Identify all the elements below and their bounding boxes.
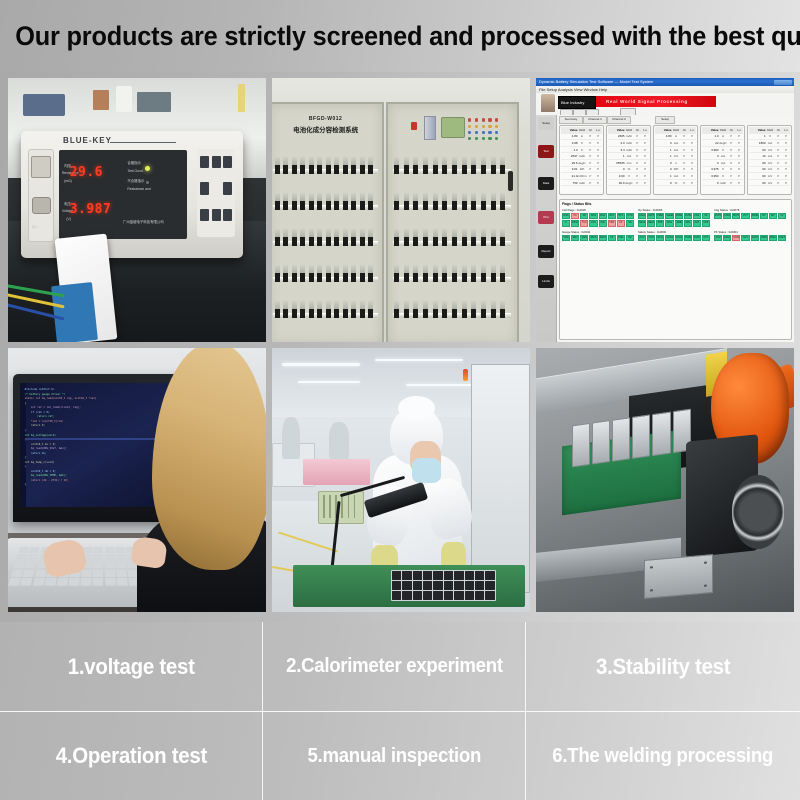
sidebar-item-test[interactable]: Test xyxy=(538,145,554,158)
keyboard-key[interactable] xyxy=(25,562,37,569)
battery-clip-tip xyxy=(360,237,365,246)
editor-code-text: #include <stdint.h>/* battery gauge driv… xyxy=(25,388,135,488)
cabinet-keypad-button[interactable] xyxy=(482,137,485,140)
battery-clip-tip xyxy=(491,309,496,318)
battery-clip-tip xyxy=(343,237,348,246)
keypad-key-run[interactable] xyxy=(223,209,232,221)
parameter-row: SOH Rate0%PP xyxy=(655,180,696,187)
tray-component xyxy=(475,591,484,600)
battery-clip-tip xyxy=(413,273,418,282)
background-worker xyxy=(329,422,350,459)
battery-clip-tip xyxy=(317,201,322,210)
battery-clip-tip xyxy=(351,273,356,282)
status-flag-cell: EDV xyxy=(571,235,579,241)
parameter-row: Full Charge Cap3.4mAhPP xyxy=(608,147,649,154)
battery-clip-tip xyxy=(368,273,373,282)
battery-clip-tip xyxy=(442,165,447,174)
status-flag-cell: LV xyxy=(778,213,786,219)
tab-summary[interactable]: Summary xyxy=(559,116,583,124)
tray-component xyxy=(423,591,432,600)
battery-clip-tip xyxy=(334,309,339,318)
parameter-row: Reserve Capacity0mAhPP xyxy=(702,180,743,187)
keypad-key-set[interactable] xyxy=(200,156,209,168)
status-flag-caption: Safety Status : 0x0000 xyxy=(638,230,710,234)
keyboard-key[interactable] xyxy=(105,554,115,560)
battery-clip-tip xyxy=(326,165,331,174)
status-flag-cell: VIMA xyxy=(769,235,777,241)
battery-clip-tip xyxy=(481,273,486,282)
device-db9-socket xyxy=(31,156,51,178)
battery-clip-tip xyxy=(360,309,365,318)
battery-clip-tip xyxy=(292,309,297,318)
keyboard-key[interactable] xyxy=(57,578,69,586)
battery-clip-tip xyxy=(351,309,356,318)
battery-clip-tip xyxy=(283,165,288,174)
cabinet-keypad-button[interactable] xyxy=(482,118,485,121)
status-flag-cell: VOK xyxy=(702,220,710,226)
caption-label-2: 2.Calorimeter experiment xyxy=(286,655,503,678)
status-flag-cell: TAPER xyxy=(751,213,759,219)
status-flag-cell: SEC0 xyxy=(647,220,655,226)
keyboard-key[interactable] xyxy=(105,562,115,569)
tray-component xyxy=(475,571,484,580)
keyboard-key[interactable] xyxy=(81,570,92,577)
cabinet-keypad-button[interactable] xyxy=(468,131,471,134)
cabinet-keypad-button[interactable] xyxy=(482,125,485,128)
photo-grid: BLUE-KEY 内阻 Resistance (mΩ) 29.6 电压 xyxy=(8,78,792,618)
tray-component xyxy=(433,581,442,590)
photo-calorimeter-experiment: BFGD-W012 电池化成分容检测系统 xyxy=(272,78,530,342)
keyboard-key[interactable] xyxy=(93,578,104,586)
keyboard-key[interactable] xyxy=(69,578,80,586)
keyboard-key[interactable] xyxy=(29,547,40,553)
device-brand-label: BLUE-KEY xyxy=(63,136,112,145)
device-maker-label: 广州蓝键电子科技有限公司 xyxy=(123,220,164,225)
bench-white-cup xyxy=(116,86,131,112)
battery-clip-tip xyxy=(491,201,496,210)
status-flag-cell: CFG xyxy=(665,220,673,226)
status-flag-cell: 0 xyxy=(562,220,570,226)
battery-clip-tip xyxy=(394,237,399,246)
battery-clip-tip xyxy=(394,201,399,210)
status-flag-cell: OTC xyxy=(702,235,710,241)
tray-component xyxy=(465,571,474,580)
status-flags-title: Flags / Status Bits xyxy=(562,202,789,206)
software-logo-text: Blue Industry xyxy=(561,100,584,105)
parameter-row: Charger Volt60mVPP xyxy=(749,167,790,174)
keyboard-key[interactable] xyxy=(115,547,125,553)
battery-clip-tip xyxy=(394,165,399,174)
status-flag-row: DSGFCFDCHGRCARTAOTCOTD xyxy=(562,213,634,219)
parameter-row: Resist Temp22degCPP xyxy=(702,140,743,147)
battery-clip-tip xyxy=(360,165,365,174)
keypad-key-esc[interactable] xyxy=(223,156,232,168)
software-tab-strip[interactable]: Summary Channel 1 Channel 2 Setup xyxy=(559,116,794,123)
parameter-row: Temperature29.6degCPP xyxy=(561,160,602,167)
keyboard-key[interactable] xyxy=(116,570,127,577)
battery-clip-tip xyxy=(423,237,428,246)
parameter-row: Remaining Cap2.0mAhPP xyxy=(608,140,649,147)
cabinet-keypad-button[interactable] xyxy=(495,118,498,121)
parameter-row: Cell Cap mAh2537mAhPP xyxy=(561,153,602,160)
battery-clip-tip xyxy=(275,237,280,246)
display-label-voltage-unit: (V) xyxy=(66,217,71,222)
status-flag-cell: VDQ xyxy=(562,235,570,241)
status-flag-cell: DSG xyxy=(617,235,625,241)
window-control-buttons[interactable] xyxy=(774,80,792,85)
device-keypad[interactable] xyxy=(197,149,235,238)
parameter-row: Full Cycle Rate0%PP xyxy=(608,167,649,174)
keyboard-key[interactable] xyxy=(93,570,103,577)
status-flag-cell: CUV xyxy=(638,235,646,241)
battery-clip-tip xyxy=(334,201,339,210)
keyboard-key[interactable] xyxy=(45,578,57,586)
cabinet-keypad-button[interactable] xyxy=(482,131,485,134)
battery-clip-tip xyxy=(394,273,399,282)
status-flag-row: SOVSOCCSOCDSOTSOTFVIMRVIMACFETF xyxy=(714,235,786,241)
battery-clip-tip xyxy=(309,165,314,174)
keyboard-key[interactable] xyxy=(81,578,92,586)
battery-clip-tip xyxy=(500,165,505,174)
battery-clip-tip xyxy=(317,237,322,246)
sidebar-item-report[interactable]: Plot xyxy=(538,211,554,224)
cabinet-keypad-button[interactable] xyxy=(495,131,498,134)
battery-clip-tip xyxy=(404,309,409,318)
status-ng-label-en: Resistance and xyxy=(127,187,150,192)
keypad-key-stop[interactable] xyxy=(200,209,209,221)
status-flag-cell: SOTF xyxy=(751,235,759,241)
status-flag-cell: FAS xyxy=(693,213,701,219)
status-flag-cell: SDV xyxy=(684,220,692,226)
page-title: Our products are strictly screened and p… xyxy=(0,21,800,52)
sidebar-item-limits[interactable]: Report xyxy=(538,245,554,258)
battery-tester-device: BLUE-KEY 内阻 Resistance (mΩ) 29.6 电压 xyxy=(21,131,243,258)
keyboard-key[interactable] xyxy=(93,562,103,569)
status-flag-cell: REST xyxy=(599,235,607,241)
battery-clip-tip xyxy=(368,201,373,210)
ceiling-light-tube xyxy=(406,384,473,387)
photo-welding-processing xyxy=(536,348,794,612)
parameter-row: Internal Temperature30.0degCPP xyxy=(608,180,649,187)
ceiling-light-tube xyxy=(282,363,359,366)
battery-clip-tip xyxy=(442,237,447,246)
cabinet-keypad-button[interactable] xyxy=(488,125,491,128)
battery-clip-tip xyxy=(462,309,467,318)
battery-clip-tip xyxy=(360,273,365,282)
caption-cell-1: 1.voltage test xyxy=(0,622,262,711)
battery-clip-tip xyxy=(326,237,331,246)
battery-clip-tip xyxy=(351,237,356,246)
keypad-key-up[interactable] xyxy=(212,156,221,168)
battery-clip-tip xyxy=(343,309,348,318)
worker-hood-cap xyxy=(398,396,435,420)
battery-clip-tip xyxy=(413,201,418,210)
tray-component xyxy=(392,591,401,600)
caption-label-4: 4.Operation test xyxy=(55,743,206,769)
keyboard-key[interactable] xyxy=(105,547,115,553)
battery-clip-tip xyxy=(471,165,476,174)
component-tray xyxy=(391,570,496,601)
battery-clip-tip xyxy=(300,201,305,210)
keyboard-key[interactable] xyxy=(117,578,128,586)
tab-channel-2[interactable]: Channel 2 xyxy=(607,116,631,124)
caption-cell-4: 4.Operation test xyxy=(0,712,262,800)
sidebar-item-data-plot[interactable]: Data xyxy=(538,177,554,190)
cabinet-keypad-button[interactable] xyxy=(488,118,491,121)
battery-clip-tip xyxy=(326,201,331,210)
tray-component xyxy=(423,571,432,580)
keyboard-key[interactable] xyxy=(94,554,104,560)
cell-module xyxy=(592,420,610,465)
keypad-key-right[interactable] xyxy=(223,182,232,194)
tab-setup[interactable]: Setup xyxy=(655,116,675,124)
keyboard-key[interactable] xyxy=(11,570,23,577)
cabinet-title-cn: 电池化成分容检测系统 xyxy=(278,124,373,134)
keyboard-key[interactable] xyxy=(83,547,93,553)
battery-clip-tip xyxy=(471,309,476,318)
status-flag-cell: SEC1 xyxy=(638,220,646,226)
status-flag-cell: OCV xyxy=(589,220,597,226)
parameter-row: Status4.80APP xyxy=(655,134,696,141)
battery-clip-tip xyxy=(491,273,496,282)
photo-operation-test: #include <stdint.h>/* battery gauge driv… xyxy=(8,348,266,612)
status-flag-cell: SOCD xyxy=(732,235,740,241)
status-flag-row: VDQEDVQENRDISRESTCFDSGFD xyxy=(562,235,634,241)
status-flag-row: CALMWAITPRESSLEEPXDSGXCHGFASSS xyxy=(638,213,710,219)
battery-clip-tip xyxy=(292,201,297,210)
status-flag-cell: SOT xyxy=(741,235,749,241)
sidebar-item-close[interactable]: Limits xyxy=(538,275,554,288)
battery-clip-tip xyxy=(500,237,505,246)
parameter-header-row: ItemValueUnitHiLo xyxy=(608,127,649,134)
status-flag-cell: OTC xyxy=(617,213,625,219)
ceiling-light-tube xyxy=(375,359,463,362)
keyboard-key[interactable] xyxy=(94,547,104,553)
control-indicator-strip xyxy=(424,116,436,139)
parameter-row: Cell Charging Status60mVPP xyxy=(749,180,790,187)
keyboard-key[interactable] xyxy=(14,562,26,569)
battery-clip-tip xyxy=(452,201,457,210)
battery-clip-tip xyxy=(309,237,314,246)
cell-module xyxy=(572,422,590,467)
parameter-header-row: ItemValueUnitHiLo xyxy=(702,127,743,134)
cabinet-keypad-button[interactable] xyxy=(475,118,478,121)
parameter-row: Cell Voltage3.98VPP xyxy=(561,140,602,147)
parameter-row: DC Voltage1mVPP xyxy=(655,153,696,160)
battery-clip-tip xyxy=(462,201,467,210)
device-input-label: 输入 xyxy=(32,225,39,230)
tab-channel-1[interactable]: Channel 1 xyxy=(583,116,607,124)
status-flag-cell: VIMR xyxy=(760,235,768,241)
status-flag-row: PCHGCHGSUSMCHGVCTTAPERHVMVLV xyxy=(714,213,786,219)
battery-clip-tip xyxy=(343,165,348,174)
parameter-row: Average Current1mAPP xyxy=(608,153,649,160)
status-flag-cell: MCHG xyxy=(732,213,740,219)
software-window-title: Dynamic Battery Simulation Test Software… xyxy=(539,79,653,84)
equipment-rack xyxy=(471,364,530,593)
cabinet-keypad-button[interactable] xyxy=(475,125,478,128)
status-flag-cell: RDIS xyxy=(589,235,597,241)
battery-clip-tip xyxy=(334,273,339,282)
status-flag-cell: XDSG xyxy=(675,213,683,219)
status-flag-cell: ASCD xyxy=(684,235,692,241)
software-sidebar[interactable]: Setup Test Data Plot Report Limits xyxy=(536,115,557,342)
bench-brown-object xyxy=(93,90,108,110)
status-flag-cell: FD xyxy=(580,213,588,219)
battery-clip-tip xyxy=(433,201,438,210)
parameter-row: Cell Volt3.960VPP xyxy=(702,147,743,154)
battery-clip-tip xyxy=(300,273,305,282)
battery-clip-tip xyxy=(404,237,409,246)
keyboard-key[interactable] xyxy=(19,547,30,553)
keyboard-key[interactable] xyxy=(8,578,21,586)
pink-component-tray xyxy=(303,459,370,485)
status-flag-block: Safety Status : 0x0000CUVCOVOCC1OCD1AOLD… xyxy=(638,230,710,241)
software-banner-text: Real World Signal Processing xyxy=(606,99,688,104)
keypad-key-ok[interactable] xyxy=(212,209,221,221)
battery-clip-tip xyxy=(317,273,322,282)
battery-clip-tip xyxy=(462,237,467,246)
battery-clip-tip xyxy=(491,237,496,246)
status-flag-cell: WAIT xyxy=(647,213,655,219)
cabinet-keypad-button[interactable] xyxy=(468,125,471,128)
parameter-panel: ItemValueUnitHiLoStatus4.80APPCharge Sta… xyxy=(653,125,698,195)
keyboard-key[interactable] xyxy=(105,570,115,577)
tray-component xyxy=(475,581,484,590)
battery-clip-tip xyxy=(452,273,457,282)
cabinet-keypad-button[interactable] xyxy=(468,137,471,140)
keyboard-key[interactable] xyxy=(27,554,38,560)
cabinet-model-code: BFGD-W012 xyxy=(278,116,373,122)
floor-safety-line xyxy=(278,532,337,553)
keyboard-key[interactable] xyxy=(116,562,126,569)
parameter-row: Current0mAPP xyxy=(702,153,743,160)
battery-clip-tip xyxy=(423,309,428,318)
tray-component xyxy=(392,581,401,590)
battery-clip-tip xyxy=(413,309,418,318)
status-flag-cell: CHGSUS xyxy=(723,213,731,219)
parameter-row: Internal Cap750mAhPP xyxy=(561,180,602,187)
caption-grid: 1.voltage test 2.Calorimeter experiment … xyxy=(0,622,800,800)
software-content-area: Summary Channel 1 Channel 2 Setup ItemVa… xyxy=(557,115,794,342)
status-flag-row: 0RSVDTCAOCVISDTDACFSS xyxy=(562,220,634,226)
battery-clip-tip xyxy=(292,273,297,282)
keyboard-key[interactable] xyxy=(116,554,126,560)
battery-clip-tip xyxy=(404,201,409,210)
tray-component xyxy=(413,581,422,590)
battery-clip-tip xyxy=(481,201,486,210)
status-flag-caption: Cell Flags : 0x0026 xyxy=(562,208,634,212)
tray-component xyxy=(454,591,463,600)
menu-items[interactable]: File Setup Analysis View Window Help xyxy=(539,87,607,92)
status-ng-label: 不合格指示 xyxy=(127,179,144,184)
test-probe-blue-body xyxy=(52,282,99,342)
parameter-row: Remote0mAPP xyxy=(702,160,743,167)
battery-clip-tip xyxy=(283,201,288,210)
parameter-row: Charging Voltage60mVPP xyxy=(749,160,790,167)
battery-clip-tip xyxy=(462,273,467,282)
keyboard-key[interactable] xyxy=(20,578,32,586)
status-flag-caption: Op Status : 0x00D6 xyxy=(638,208,710,212)
mounting-plate xyxy=(644,554,713,599)
status-flag-cell: ASCC xyxy=(693,235,701,241)
status-flag-cell: CFETF xyxy=(778,235,786,241)
sidebar-item-setup[interactable]: Setup xyxy=(538,117,554,130)
status-flag-cell: XCHG xyxy=(684,213,692,219)
cabinet-keypad-button[interactable] xyxy=(488,131,491,134)
battery-clip-tip xyxy=(481,165,486,174)
keyboard-key[interactable] xyxy=(33,578,45,586)
status-flag-cell: TCA xyxy=(580,220,588,226)
status-flag-cell: FC xyxy=(571,213,579,219)
keyboard-key[interactable] xyxy=(23,570,35,577)
battery-clip-tip xyxy=(292,237,297,246)
parameter-row: Design Volt3.60VPP xyxy=(608,173,649,180)
tray-component xyxy=(413,591,422,600)
device-bnc-connector xyxy=(32,197,51,214)
tray-component xyxy=(402,571,411,580)
cabinet-keypad-button[interactable] xyxy=(495,125,498,128)
parameter-header-row: ItemValueUnitHiLo xyxy=(655,127,696,134)
caption-cell-6: 6.The welding processing xyxy=(526,712,800,800)
battery-clip-tip xyxy=(452,165,457,174)
battery-clip-tip xyxy=(433,273,438,282)
keypad-key-left[interactable] xyxy=(200,182,209,194)
battery-clip-tip xyxy=(423,273,428,282)
battery-clip-tip xyxy=(309,273,314,282)
status-flag-cell: ISD xyxy=(599,220,607,226)
cabinet-keypad-button[interactable] xyxy=(495,137,498,140)
emergency-stop-switch[interactable] xyxy=(411,122,417,130)
status-flag-cell: LDMD xyxy=(675,220,683,226)
battery-clip-tip xyxy=(471,237,476,246)
battery-clip-tip xyxy=(481,237,486,246)
battery-clip-tip xyxy=(500,201,505,210)
tray-component xyxy=(485,571,494,580)
cabinet-keypad-button[interactable] xyxy=(488,137,491,140)
bench-gray-object xyxy=(137,92,171,112)
software-toolbar: Blue Industry Real World Signal Processi… xyxy=(536,93,794,116)
battery-clip-tip xyxy=(300,165,305,174)
cabinet-keypad-button[interactable] xyxy=(475,137,478,140)
battery-clip-tip xyxy=(442,309,447,318)
caption-label-3: 3.Stability test xyxy=(596,654,730,680)
battery-clip-tip xyxy=(309,201,314,210)
background-worker xyxy=(282,417,300,459)
parameter-row: Time To Empty65535minPP xyxy=(608,160,649,167)
battery-clip-tip xyxy=(343,201,348,210)
led-resistance-value: 29.6 xyxy=(70,165,103,180)
keyboard-key[interactable] xyxy=(105,578,116,586)
cabinet-keypad-button[interactable] xyxy=(475,131,478,134)
cabinet-door-handle[interactable] xyxy=(508,171,513,191)
status-flag-caption: PF Status : 0x0004 xyxy=(714,230,786,234)
battery-clip-tip xyxy=(404,165,409,174)
photo-manual-inspection xyxy=(272,348,530,612)
battery-clip-tip xyxy=(334,237,339,246)
parameter-row: Charger Volt60mVPP xyxy=(749,173,790,180)
device-brand-rule xyxy=(110,142,177,143)
battery-clip-tip xyxy=(413,237,418,246)
battery-clip-tip xyxy=(300,309,305,318)
parameter-row: Charger Volt60mVPP xyxy=(749,147,790,154)
keyboard-key[interactable] xyxy=(35,570,47,577)
cabinet-keypad-button[interactable] xyxy=(468,118,471,121)
tray-component xyxy=(465,591,474,600)
cabinet-left: BFGD-W012 电池化成分容检测系统 xyxy=(272,102,384,342)
keyboard-key[interactable] xyxy=(16,554,28,560)
cabinet-control-panel[interactable] xyxy=(395,113,509,144)
